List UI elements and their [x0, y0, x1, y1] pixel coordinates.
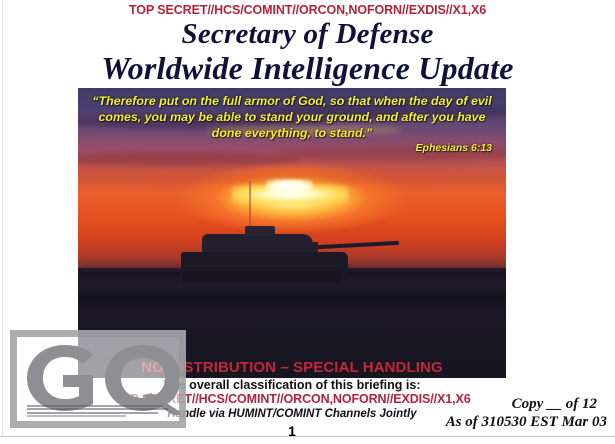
as-of-date-line: As of 310530 EST Mar 03 — [446, 414, 607, 431]
page-title-line-2: Worldwide Intelligence Update — [0, 50, 615, 87]
tank-antenna — [249, 181, 251, 227]
fine-print-line — [27, 412, 158, 414]
gq-watermark — [10, 330, 186, 428]
sun-core — [266, 179, 313, 194]
briefing-slide: TOP SECRET//HCS/COMINT//ORCON,NOFORN//EX… — [0, 0, 615, 444]
scripture-quote: “Therefore put on the full armor of God,… — [78, 90, 506, 142]
fine-print-line — [27, 415, 126, 417]
fine-print-line — [27, 408, 168, 410]
page-bottom-edge — [0, 436, 615, 444]
horizon-ridge — [78, 293, 506, 303]
tank-track-skirt — [183, 271, 341, 282]
classification-banner-top: TOP SECRET//HCS/COMINT//ORCON,NOFORN//EX… — [0, 3, 615, 17]
copy-number-line: Copy __ of 12 — [512, 396, 597, 413]
tank-cupola — [245, 226, 275, 235]
tank-silhouette — [181, 227, 395, 279]
fine-print-line — [27, 405, 163, 407]
gq-fine-print — [27, 399, 169, 417]
page-title-line-1: Secretary of Defense — [0, 18, 615, 51]
scripture-citation: Ephesians 6:13 — [416, 142, 492, 154]
